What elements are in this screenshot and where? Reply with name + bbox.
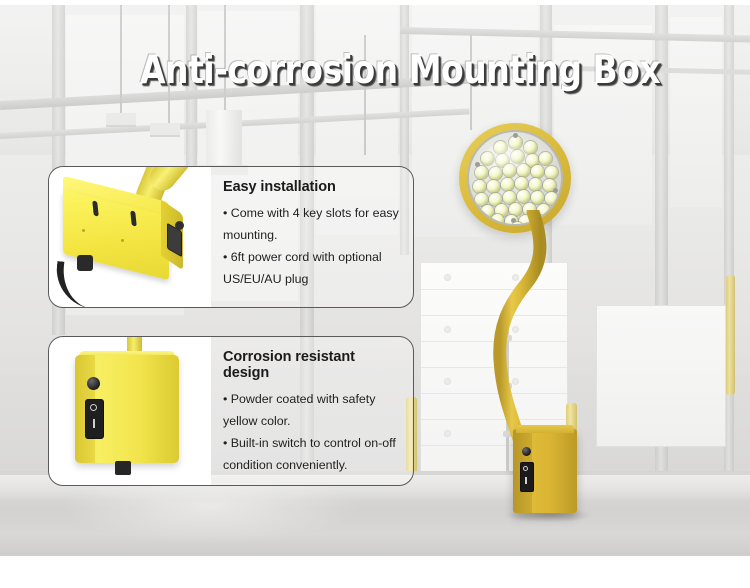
feature-photo-corrosion-resistant bbox=[49, 337, 211, 485]
screw-dot-icon bbox=[82, 229, 85, 232]
base-knob-icon bbox=[522, 447, 531, 456]
screw-dot-icon bbox=[121, 239, 124, 242]
feature-text-corrosion-resistant: Corrosion resistant design • Powder coat… bbox=[211, 337, 413, 485]
knob-icon bbox=[87, 377, 100, 390]
feature-text-easy-installation: Easy installation • Come with 4 key slot… bbox=[211, 167, 413, 307]
product-feature-banner: Anti-corrosion Mounting Box Easy install… bbox=[0, 0, 750, 588]
feature-title: Corrosion resistant design bbox=[223, 349, 403, 381]
feature-bullet: • Come with 4 key slots for easy bbox=[223, 202, 403, 224]
feature-bullet: • Powder coated with safety bbox=[223, 388, 403, 410]
lens-glare bbox=[483, 142, 537, 176]
switch-off-symbol-icon bbox=[523, 466, 528, 471]
feature-bullet-cont: yellow color. bbox=[223, 410, 403, 432]
power-cord bbox=[53, 261, 98, 307]
page-title: Anti-corrosion Mounting Box bbox=[140, 48, 591, 94]
feature-bullet: • 6ft power cord with optional bbox=[223, 246, 403, 268]
switch-on-symbol-icon bbox=[93, 419, 95, 428]
feature-bullet: • Built-in switch to control on-off bbox=[223, 432, 403, 454]
power-cord-outlet bbox=[115, 461, 131, 475]
switch-off-symbol-icon bbox=[90, 404, 97, 411]
switch-on-symbol-icon bbox=[525, 477, 527, 484]
mounting-box-top-face bbox=[516, 425, 574, 433]
feature-bullet-cont: condition conveniently. bbox=[223, 454, 403, 476]
feature-card-corrosion-resistant: Corrosion resistant design • Powder coat… bbox=[48, 336, 414, 486]
feature-title: Easy installation bbox=[223, 179, 403, 195]
feature-card-easy-installation: Easy installation • Come with 4 key slot… bbox=[48, 166, 414, 308]
bottom-white-margin bbox=[0, 556, 750, 588]
feature-bullet-cont: mounting. bbox=[223, 224, 403, 246]
feature-bullet-cont: US/EU/AU plug bbox=[223, 268, 403, 290]
feature-photo-easy-installation bbox=[49, 167, 211, 307]
top-white-margin bbox=[0, 0, 750, 5]
knob-icon bbox=[175, 221, 184, 230]
